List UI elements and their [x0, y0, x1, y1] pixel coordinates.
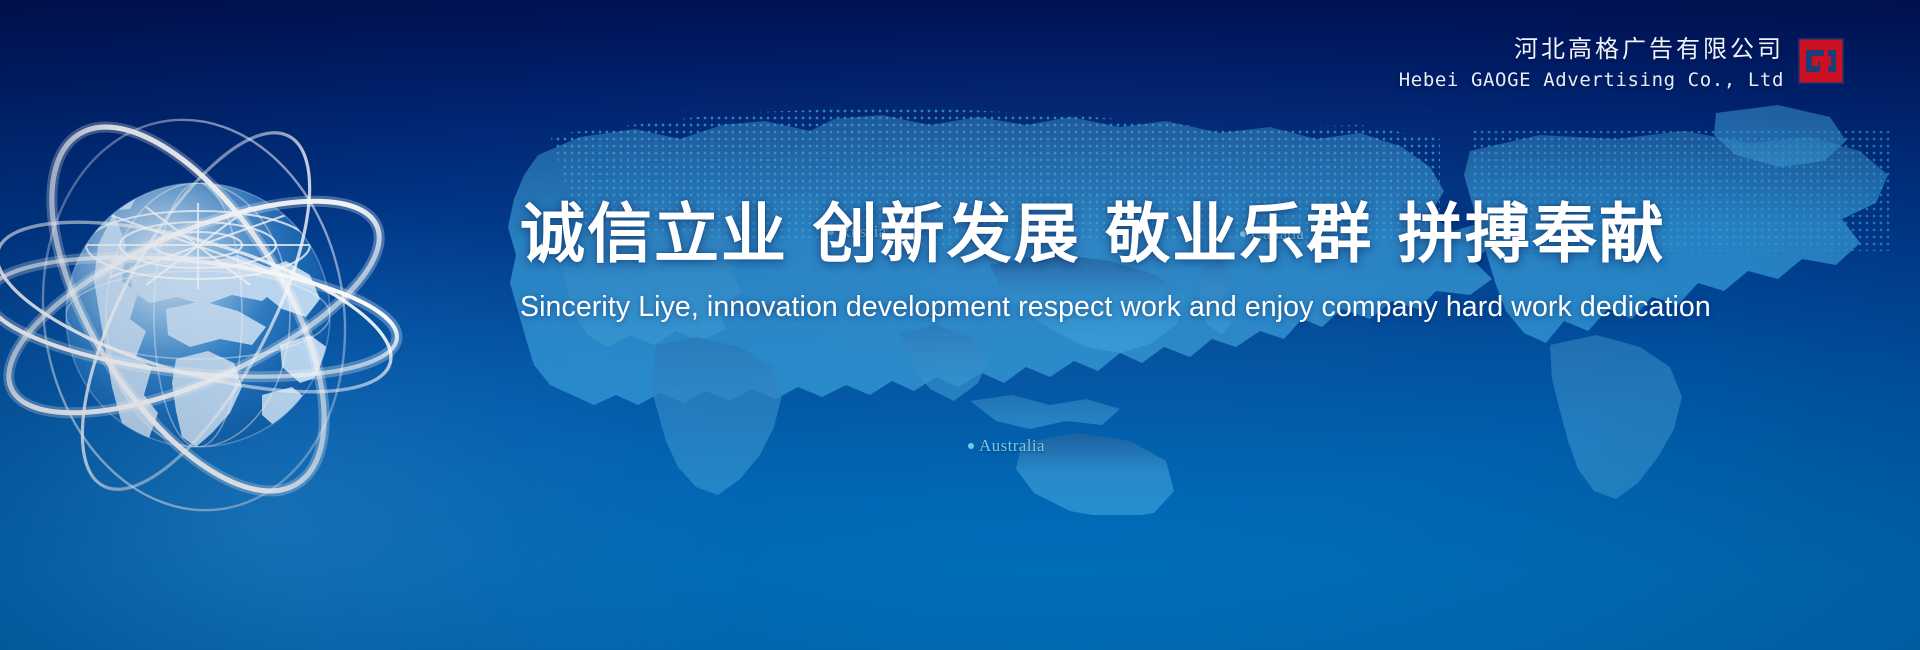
gaoge-monogram-logo: [1798, 38, 1844, 84]
company-name-english: Hebei GAOGE Advertising Co., Ltd: [1399, 69, 1784, 93]
slogan-chinese: 诚信立业 创新发展 敬业乐群 拼搏奉献: [520, 198, 1850, 273]
slogan-block: 诚信立业 创新发展 敬业乐群 拼搏奉献 Sincerity Liye, inno…: [520, 198, 1850, 324]
company-name-chinese: 河北高格广告有限公司: [1399, 34, 1784, 64]
map-label-australia: Australia: [968, 436, 1045, 456]
company-name-block: 河北高格广告有限公司 Hebei GAOGE Advertising Co., …: [1399, 34, 1784, 93]
globe-orbit-graphic: [0, 95, 420, 535]
slogan-english: Sincerity Liye, innovation development r…: [520, 291, 1850, 324]
map-pin-dot: [968, 443, 974, 449]
company-banner: Russia Canada Europe China Australia: [0, 0, 1920, 650]
company-identity: 河北高格广告有限公司 Hebei GAOGE Advertising Co., …: [1399, 34, 1844, 93]
